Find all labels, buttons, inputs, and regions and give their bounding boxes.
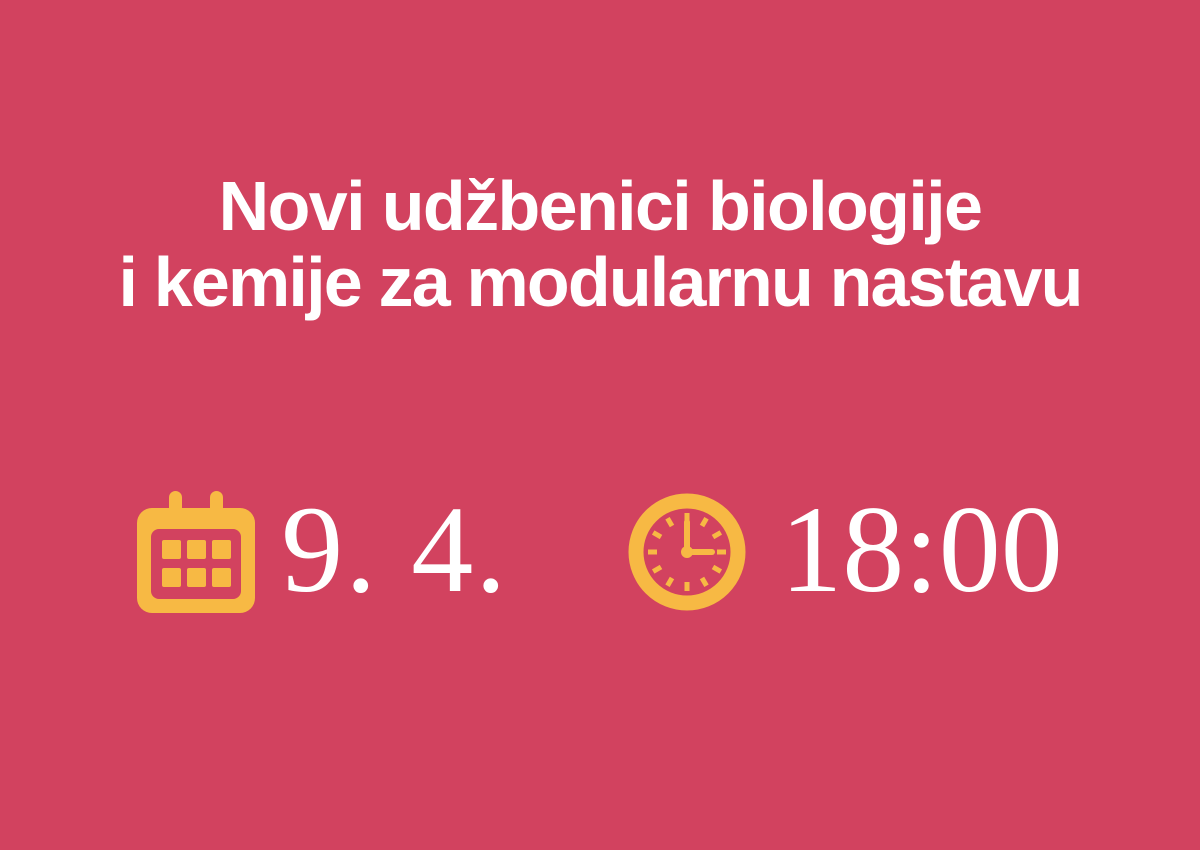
event-date: 9. 4. <box>137 490 508 614</box>
event-time: 18:00 <box>622 490 1062 614</box>
event-time-value: 18:00 <box>780 488 1062 612</box>
event-date-value: 9. 4. <box>281 488 508 612</box>
page-title: Novi udžbenici biologije i kemije za mod… <box>0 168 1200 320</box>
calendar-icon <box>137 491 255 613</box>
title-line-2: i kemije za modularnu nastavu <box>0 244 1200 320</box>
clock-icon <box>622 491 752 613</box>
event-poster: Novi udžbenici biologije i kemije za mod… <box>0 0 1200 850</box>
title-line-1: Novi udžbenici biologije <box>0 168 1200 244</box>
event-details-row: 9. 4. <box>0 487 1200 617</box>
